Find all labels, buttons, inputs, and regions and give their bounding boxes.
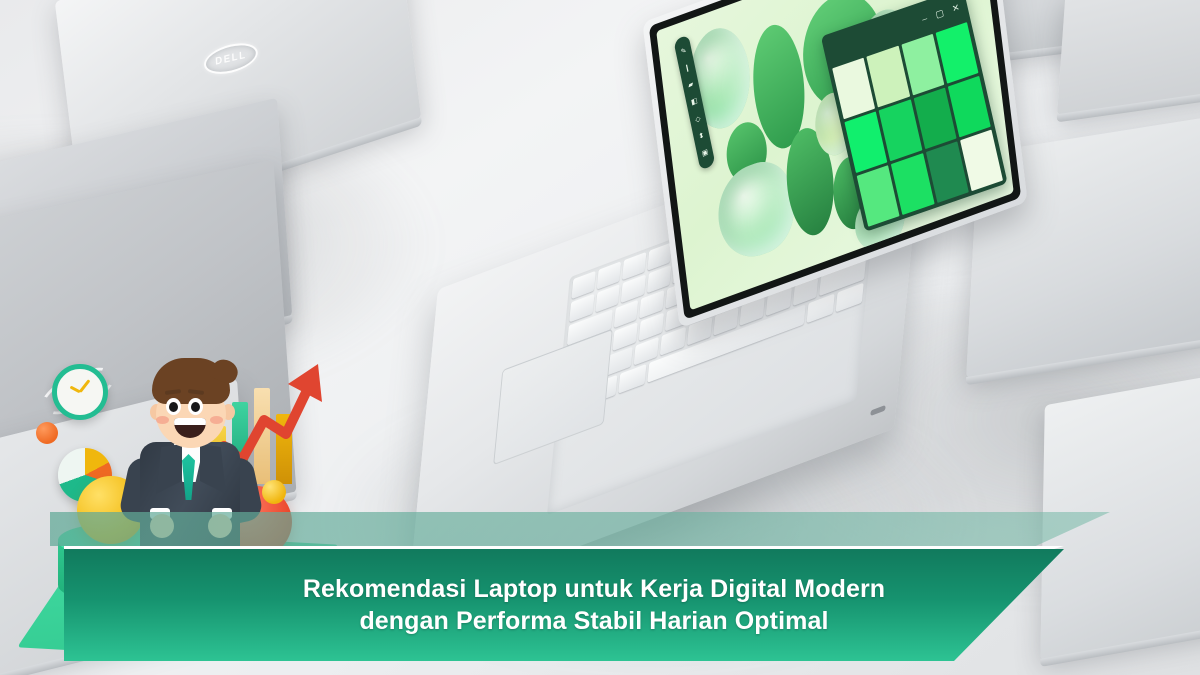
banner-divider-rule (64, 546, 1064, 549)
eraser-icon[interactable]: ▰ (686, 79, 696, 92)
small-yellow-sphere (262, 480, 286, 504)
laptop-edge (1040, 600, 1200, 667)
shapes-icon[interactable]: ◧ (689, 96, 699, 109)
title-line-2: dengan Performa Stabil Harian Optimal (303, 605, 885, 638)
brush-icon[interactable]: ❙ (682, 62, 692, 75)
eye-right (188, 398, 203, 415)
minimize-icon[interactable]: – (921, 13, 928, 24)
eye-left (166, 398, 181, 415)
background-laptop-far-top-right (1057, 0, 1200, 115)
close-icon[interactable]: ✕ (951, 1, 961, 14)
banner-accent-band (50, 512, 1110, 546)
hero-laptop: ✎ ❙ ▰ ◧ ◇ ⬍ ▣ – ▢ ✕ (398, 0, 1038, 496)
text-icon[interactable]: ⬍ (696, 130, 706, 143)
dell-logo: DELL (204, 39, 259, 79)
clock-badge-icon (52, 364, 108, 420)
cheek-right (210, 416, 223, 424)
page-title: Rekomendasi Laptop untuk Kerja Digital M… (243, 573, 885, 638)
title-line-1: Rekomendasi Laptop untuk Kerja Digital M… (303, 573, 885, 606)
wallpaper-blob (714, 152, 798, 268)
title-banner: Rekomendasi Laptop untuk Kerja Digital M… (64, 549, 1064, 661)
cheek-left (156, 416, 169, 424)
maximize-icon[interactable]: ▢ (934, 7, 945, 21)
layers-icon[interactable]: ▣ (700, 147, 710, 160)
eyedropper-icon[interactable]: ◇ (693, 113, 703, 126)
orange-dot (36, 422, 58, 444)
hair (152, 358, 230, 404)
pencil-icon[interactable]: ✎ (679, 45, 689, 58)
laptop-edge (1056, 78, 1200, 122)
teeth (174, 418, 206, 425)
clock-hand (70, 386, 81, 394)
hero-banner-scene: DELL DELL (0, 0, 1200, 675)
